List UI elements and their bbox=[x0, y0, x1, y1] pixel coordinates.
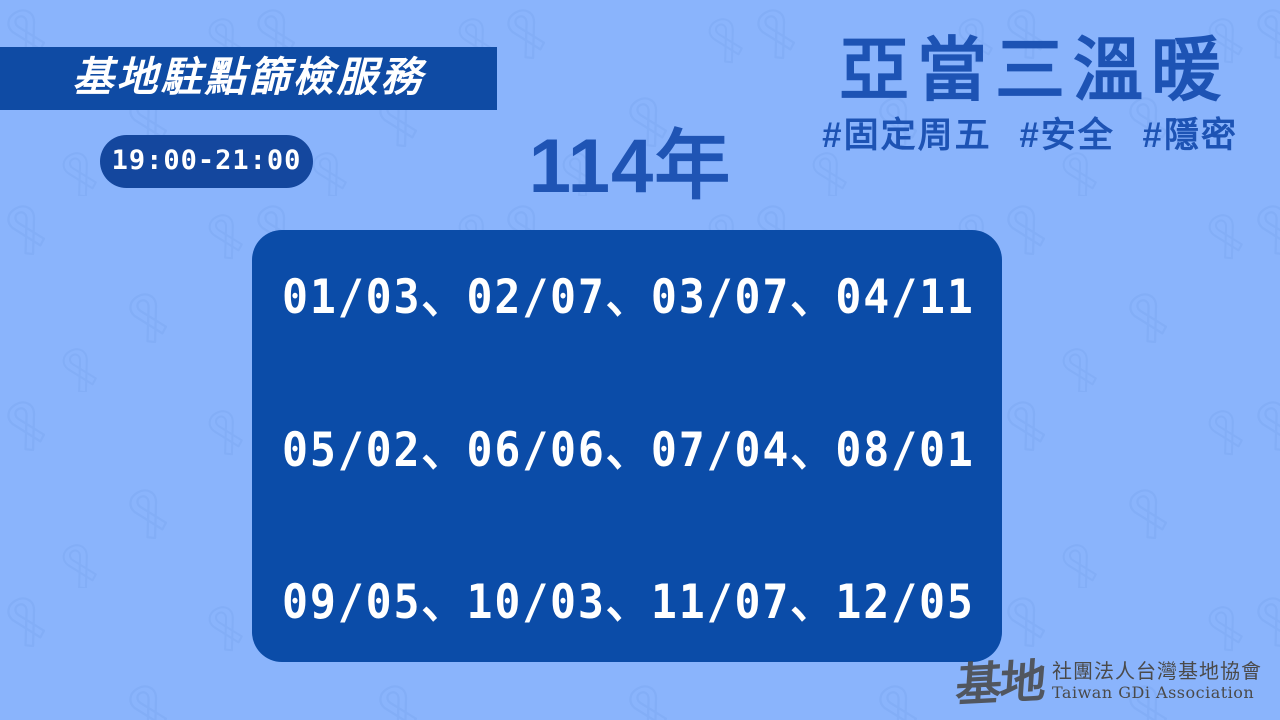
hashtag-item: #固定周五 bbox=[822, 116, 991, 155]
brand-hashtags: #固定周五 #安全 #隱密 bbox=[822, 114, 1238, 158]
brand-name: 亞當三溫暖 bbox=[822, 34, 1238, 108]
hashtag-item: #安全 bbox=[1019, 116, 1114, 155]
logo-text-block: 社團法人台灣基地協會 Taiwan GDi Association bbox=[1052, 660, 1262, 706]
brand-block: 亞當三溫暖 #固定周五 #安全 #隱密 bbox=[822, 34, 1238, 157]
time-range-text: 19:00-21:00 bbox=[112, 145, 302, 176]
logo-mark-calligraphy: 基地 bbox=[954, 660, 1046, 708]
year-label-text: 114年 bbox=[529, 129, 732, 205]
schedule-row: 05/02、06/06、07/04、08/01 bbox=[282, 427, 972, 474]
time-range-badge: 19:00-21:00 bbox=[100, 135, 313, 188]
organization-name-cn: 社團法人台灣基地協會 bbox=[1052, 660, 1262, 683]
hashtag-item: #隱密 bbox=[1143, 116, 1238, 155]
organization-name-en: Taiwan GDi Association bbox=[1052, 683, 1262, 702]
organization-logo: 基地 社團法人台灣基地協會 Taiwan GDi Association bbox=[956, 660, 1262, 706]
schedule-row: 09/05、10/03、11/07、12/05 bbox=[282, 579, 972, 626]
year-label: 114年 bbox=[510, 112, 750, 222]
schedule-row: 01/03、02/07、03/07、04/11 bbox=[282, 274, 972, 321]
schedule-card: 01/03、02/07、03/07、04/11 05/02、06/06、07/0… bbox=[252, 230, 1002, 662]
poster-canvas: 基地駐點篩檢服務 19:00-21:00 114年 亞當三溫暖 #固定周五 #安… bbox=[0, 0, 1280, 720]
service-title-text: 基地駐點篩檢服務 bbox=[73, 57, 425, 98]
service-title-banner: 基地駐點篩檢服務 bbox=[0, 47, 497, 110]
